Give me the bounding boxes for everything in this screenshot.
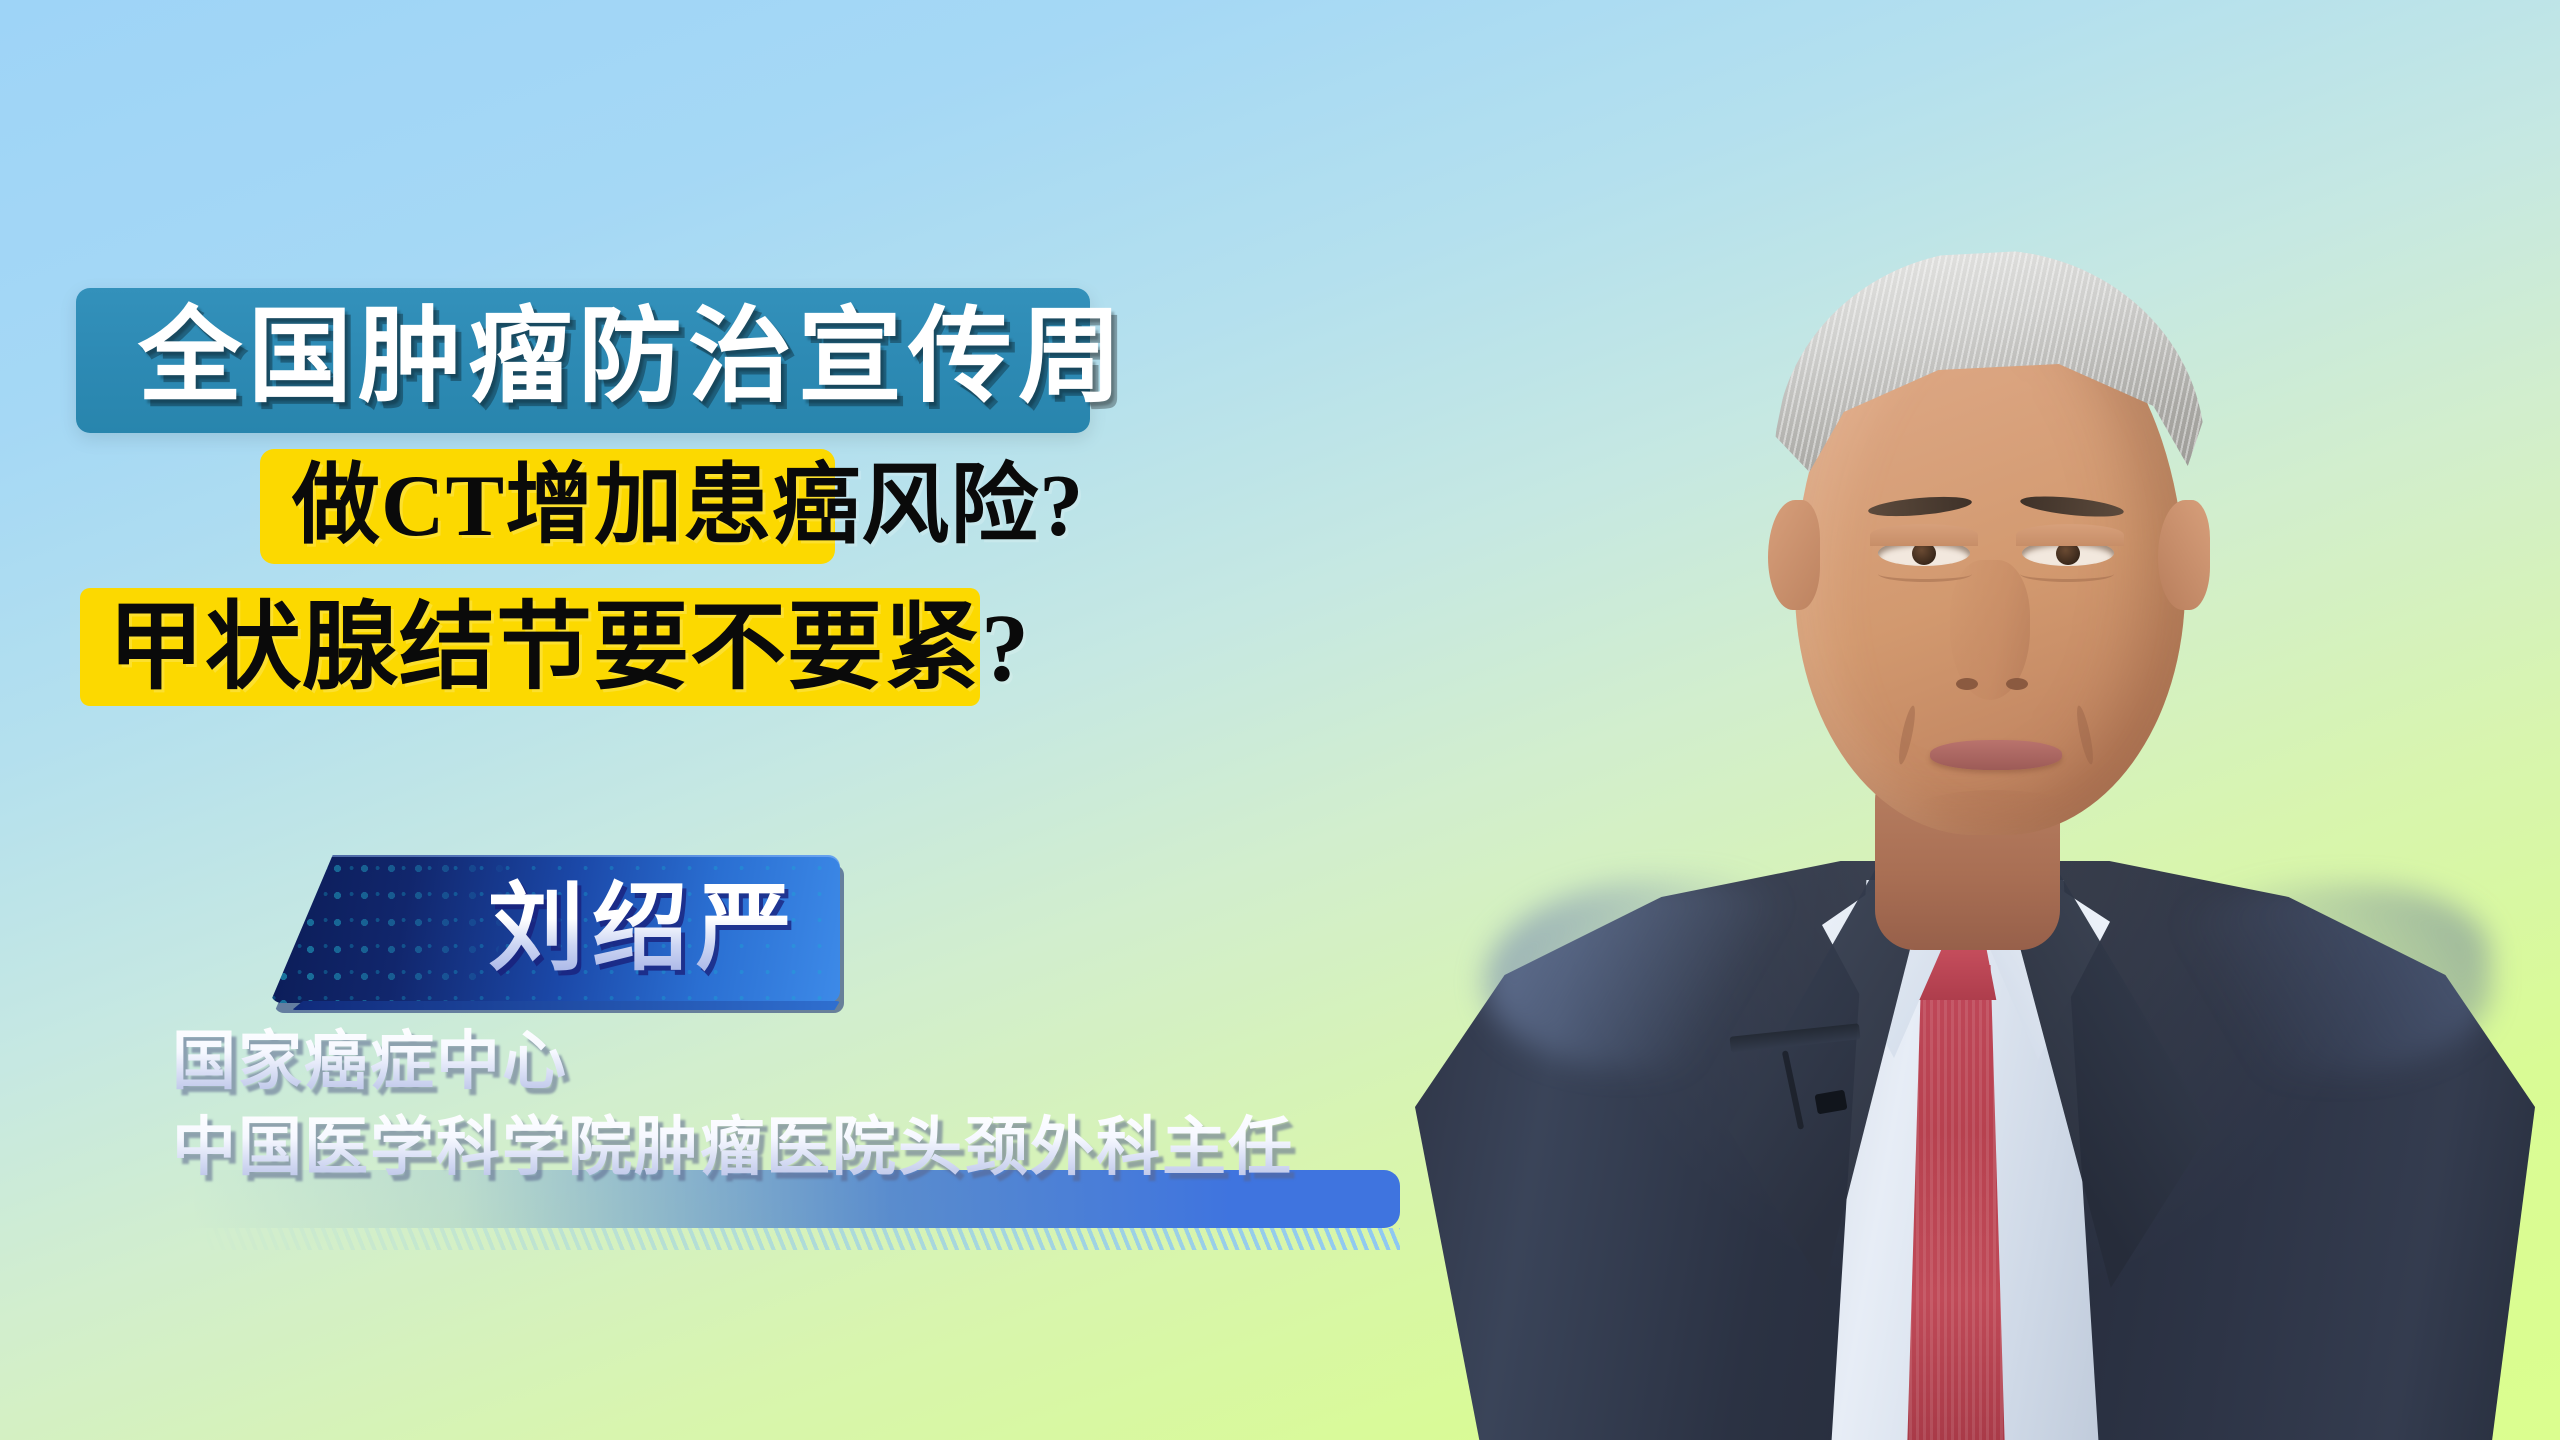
ear-left xyxy=(1768,500,1820,610)
main-title-text: 全国肿瘤防治宣传周 xyxy=(138,278,1128,438)
chin-shadow xyxy=(1910,790,2080,836)
mouth xyxy=(1930,740,2062,770)
credential-line-1: 国家癌症中心 xyxy=(172,1020,568,1104)
dot-pattern-decoration xyxy=(270,855,521,1003)
subtitle-text-1: 做CT增加患癌风险? xyxy=(292,443,1084,571)
under-eye-right xyxy=(2020,566,2114,582)
hatched-decoration xyxy=(200,1228,1400,1250)
subtitle-box-2: 甲状腺结节要不要紧? xyxy=(80,588,980,706)
subtitle-text-2: 甲状腺结节要不要紧? xyxy=(108,580,1030,716)
ear-right xyxy=(2158,500,2210,610)
credential-line-2: 中国医学科学院肿瘤医院头颈外科主任 xyxy=(172,1106,1294,1190)
main-title-banner: 全国肿瘤防治宣传周 xyxy=(76,288,1090,433)
speaker-portrait xyxy=(1390,0,2560,1440)
eyelid-left xyxy=(1870,524,1978,546)
subtitle-box-1: 做CT增加患癌风险? xyxy=(260,449,835,564)
eyelid-right xyxy=(2016,524,2124,546)
speaker-name-banner: 刘绍严 xyxy=(270,855,840,1003)
nostril-left xyxy=(1956,678,1978,690)
nostril-right xyxy=(2006,678,2028,690)
name-banner-underline xyxy=(292,1001,840,1010)
speaker-name-text: 刘绍严 xyxy=(488,863,800,995)
